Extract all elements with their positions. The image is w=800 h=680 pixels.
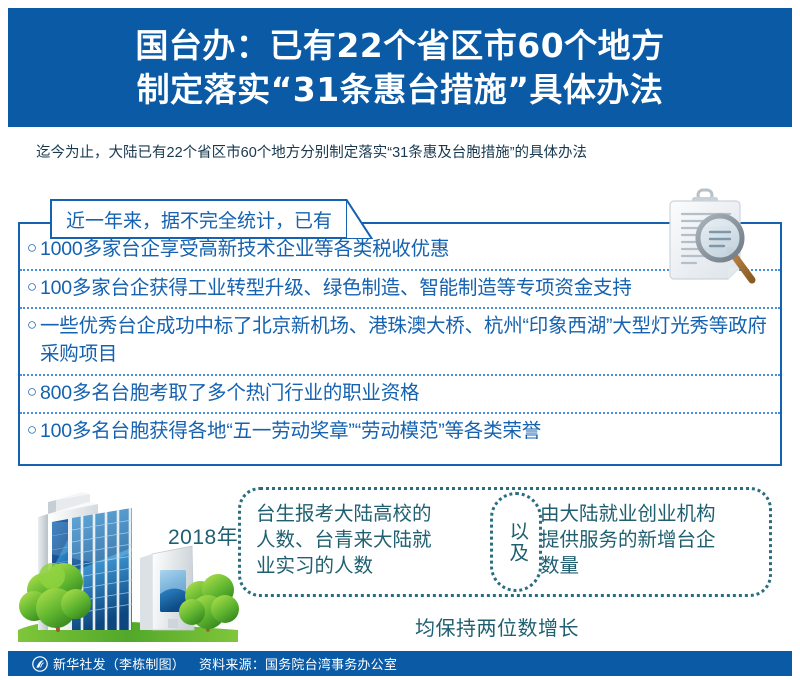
panel-tab-label-text: 近一年来，据不完全统计，已有 [66, 206, 332, 233]
bullet-circle-icon: ○ [20, 236, 40, 261]
footer-source: 资料来源：国务院台湾事务办公室 [199, 657, 397, 672]
city-buildings-illustration [12, 470, 252, 642]
panel-tab-label: 近一年来，据不完全统计，已有 [50, 199, 346, 239]
footer-credit: 新华社发（李栋制图） [53, 657, 185, 672]
list-item: ○ 100多名台胞获得各地“五一劳动奖章”“劳动模范”等各类荣誉 [20, 414, 780, 451]
footer-bar: 新华社发（李栋制图）资料来源：国务院台湾事务办公室 [8, 651, 792, 676]
bullet-circle-icon: ○ [20, 275, 40, 300]
list-item: ○ 一些优秀台企成功中标了北京新机场、港珠澳大桥、杭州“印象西湖”大型灯光秀等政… [20, 309, 780, 375]
header-title-line-1: 国台办：已有22个省区市60个地方 [135, 24, 664, 68]
bullet-circle-icon: ○ [20, 380, 40, 405]
growth-note: 均保持两位数增长 [415, 612, 579, 641]
clipboard-magnifier-icon [662, 188, 758, 292]
list-item-text: 一些优秀台企成功中标了北京新机场、港珠澳大桥、杭州“印象西湖”大型灯光秀等政府采… [40, 313, 780, 368]
year-label: 2018年 [168, 521, 238, 551]
panel-tab-flag-icon [346, 199, 374, 239]
infographic-root: 国台办：已有22个省区市60个地方 制定落实“31条惠台措施”具体办法 迄今为止… [0, 0, 800, 680]
list-item-text: 800多名台胞考取了多个热门行业的职业资格 [40, 380, 780, 408]
subtitle-text: 迄今为止，大陆已有22个省区市60个地方分别制定落实“31条惠及台胞措施”的具体… [36, 143, 776, 163]
xinhua-logo-icon [32, 656, 48, 672]
bubble-left-text: 台生报考大陆高校的 人数、台青来大陆就 业实习的人数 [256, 502, 471, 580]
bubble-right-text: 由大陆就业创业机构 提供服务的新增台企 数量 [540, 502, 775, 580]
list-item-text: 100多名台胞获得各地“五一劳动奖章”“劳动模范”等各类荣誉 [40, 418, 780, 446]
bullet-circle-icon: ○ [20, 313, 40, 338]
bullet-circle-icon: ○ [20, 418, 40, 443]
bubble-connector-text: 以及 [504, 521, 527, 564]
footer-credit-and-source: 新华社发（李栋制图）资料来源：国务院台湾事务办公室 [53, 654, 397, 673]
bubble-connector: 以及 [490, 492, 542, 592]
header-title-line-2: 制定落实“31条惠台措施”具体办法 [137, 68, 664, 112]
list-item: ○ 800多名台胞考取了多个热门行业的职业资格 [20, 376, 780, 415]
header-banner: 国台办：已有22个省区市60个地方 制定落实“31条惠台措施”具体办法 [8, 8, 792, 127]
